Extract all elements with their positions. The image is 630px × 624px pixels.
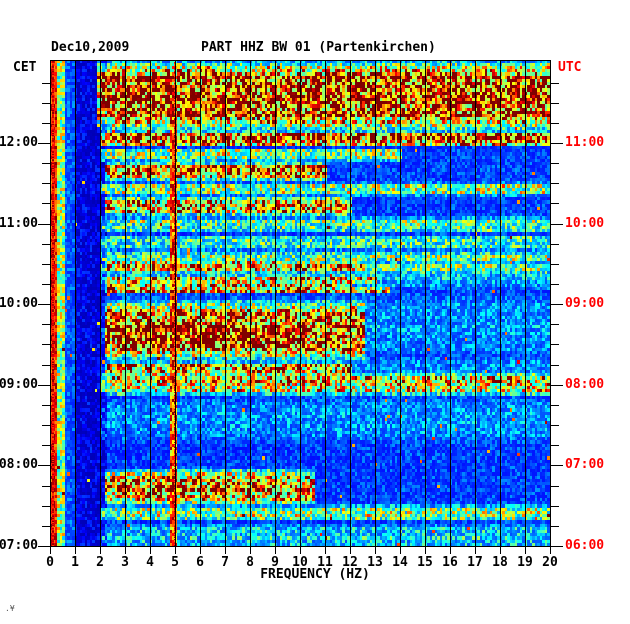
gridline-14hz <box>400 60 401 547</box>
gridline-17hz <box>475 60 476 547</box>
utc-major-tick <box>551 224 563 225</box>
gridline-18hz <box>500 60 501 547</box>
frequency-tick <box>475 547 476 554</box>
frequency-tick <box>75 547 76 554</box>
frequency-tick <box>125 547 126 554</box>
frequency-tick <box>375 547 376 554</box>
gridline-12hz <box>350 60 351 547</box>
frequency-tick <box>525 547 526 554</box>
gridline-9hz <box>275 60 276 547</box>
gridline-3hz <box>125 60 126 547</box>
gridline-4hz <box>150 60 151 547</box>
utc-minor-tick <box>551 163 559 164</box>
cet-minor-tick <box>42 344 50 345</box>
gridline-1hz <box>75 60 76 547</box>
cet-minor-tick <box>42 506 50 507</box>
left-timezone-label: CET <box>13 60 36 75</box>
utc-minor-tick <box>551 405 559 406</box>
cet-minor-tick <box>42 103 50 104</box>
cet-tick-label: 08:00 <box>0 457 38 472</box>
gridline-5hz <box>175 60 176 547</box>
cet-tick-label: 09:00 <box>0 377 38 392</box>
utc-minor-tick <box>551 244 559 245</box>
station-title: PART HHZ BW 01 (Partenkirchen) <box>201 40 436 55</box>
utc-minor-tick <box>551 526 559 527</box>
gridline-19hz <box>525 60 526 547</box>
utc-major-tick <box>551 385 563 386</box>
utc-major-tick <box>551 304 563 305</box>
cet-tick-label: 12:00 <box>0 135 38 150</box>
cet-major-tick <box>38 385 50 386</box>
cet-tick-label: 11:00 <box>0 216 38 231</box>
cet-tick-label: 07:00 <box>0 538 38 553</box>
cet-minor-tick <box>42 203 50 204</box>
cet-tick-label: 10:00 <box>0 296 38 311</box>
utc-major-tick <box>551 143 563 144</box>
frequency-tick <box>250 547 251 554</box>
gridline-16hz <box>450 60 451 547</box>
spectrogram-plot-area[interactable] <box>50 60 551 547</box>
frequency-tick <box>350 547 351 554</box>
utc-minor-tick <box>551 284 559 285</box>
utc-major-tick <box>551 465 563 466</box>
frequency-tick <box>300 547 301 554</box>
cet-minor-tick <box>42 324 50 325</box>
utc-minor-tick <box>551 425 559 426</box>
cet-minor-tick <box>42 445 50 446</box>
cet-minor-tick <box>42 284 50 285</box>
utc-tick-label: 06:00 <box>565 538 604 553</box>
gridline-8hz <box>250 60 251 547</box>
cet-major-tick <box>38 546 50 547</box>
utc-minor-tick <box>551 203 559 204</box>
utc-minor-tick <box>551 123 559 124</box>
cet-minor-tick <box>42 486 50 487</box>
frequency-tick <box>425 547 426 554</box>
utc-minor-tick <box>551 264 559 265</box>
frequency-tick <box>175 547 176 554</box>
cet-minor-tick <box>42 405 50 406</box>
frequency-tick <box>200 547 201 554</box>
utc-tick-label: 10:00 <box>565 216 604 231</box>
utc-minor-tick <box>551 83 559 84</box>
frequency-tick <box>550 547 551 554</box>
cet-major-tick <box>38 304 50 305</box>
corner-artifact-mark: .¥ <box>5 604 15 613</box>
frequency-tick <box>500 547 501 554</box>
gridline-11hz <box>325 60 326 547</box>
frequency-tick <box>225 547 226 554</box>
frequency-tick <box>450 547 451 554</box>
spectrogram-page: Dec10,2009 PART HHZ BW 01 (Partenkirchen… <box>0 0 630 624</box>
utc-tick-label: 08:00 <box>565 377 604 392</box>
gridline-15hz <box>425 60 426 547</box>
cet-minor-tick <box>42 83 50 84</box>
gridline-7hz <box>225 60 226 547</box>
cet-minor-tick <box>42 244 50 245</box>
cet-major-tick <box>38 143 50 144</box>
utc-tick-label: 11:00 <box>565 135 604 150</box>
utc-tick-label: 07:00 <box>565 457 604 472</box>
gridline-10hz <box>300 60 301 547</box>
utc-minor-tick <box>551 365 559 366</box>
utc-tick-label: 09:00 <box>565 296 604 311</box>
cet-major-tick <box>38 224 50 225</box>
cet-minor-tick <box>42 163 50 164</box>
frequency-tick <box>50 547 51 554</box>
utc-minor-tick <box>551 506 559 507</box>
frequency-tick <box>325 547 326 554</box>
utc-minor-tick <box>551 486 559 487</box>
utc-minor-tick <box>551 103 559 104</box>
gridline-6hz <box>200 60 201 547</box>
utc-minor-tick <box>551 324 559 325</box>
frequency-tick <box>400 547 401 554</box>
frequency-tick <box>275 547 276 554</box>
cet-minor-tick <box>42 123 50 124</box>
cet-minor-tick <box>42 365 50 366</box>
gridline-13hz <box>375 60 376 547</box>
cet-major-tick <box>38 465 50 466</box>
cet-minor-tick <box>42 425 50 426</box>
utc-minor-tick <box>551 183 559 184</box>
cet-minor-tick <box>42 264 50 265</box>
utc-minor-tick <box>551 445 559 446</box>
right-timezone-label: UTC <box>558 60 581 75</box>
frequency-tick <box>150 547 151 554</box>
xaxis-title: FREQUENCY (HZ) <box>0 567 630 582</box>
gridline-2hz <box>100 60 101 547</box>
cet-minor-tick <box>42 183 50 184</box>
frequency-tick <box>100 547 101 554</box>
utc-major-tick <box>551 546 563 547</box>
plot-date-label: Dec10,2009 <box>51 40 129 55</box>
utc-minor-tick <box>551 344 559 345</box>
cet-minor-tick <box>42 526 50 527</box>
